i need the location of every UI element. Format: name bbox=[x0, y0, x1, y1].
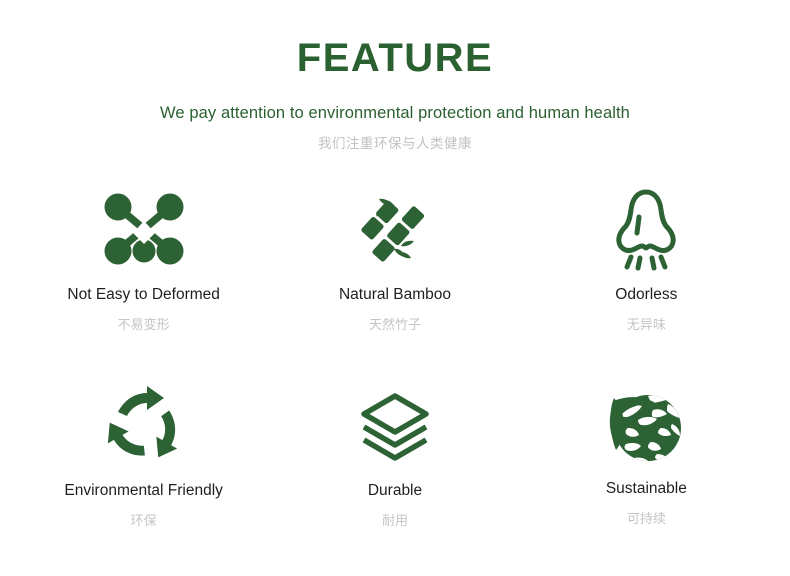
feature-grid: Not Easy to Deformed 不易变形 bbox=[0, 180, 790, 572]
feature-item-natural-bamboo: Natural Bamboo 天然竹子 bbox=[269, 180, 520, 376]
feature-label-en: Sustainable bbox=[606, 480, 687, 499]
section-header: FEATURE We pay attention to environmenta… bbox=[0, 38, 790, 152]
feature-label-cn: 不易变形 bbox=[118, 317, 170, 333]
layers-stack-icon bbox=[357, 376, 433, 476]
page-title: FEATURE bbox=[0, 38, 790, 78]
globe-leaf-icon bbox=[604, 376, 688, 476]
bamboo-stalks-icon bbox=[358, 180, 432, 278]
feature-label-en: Natural Bamboo bbox=[339, 286, 451, 305]
feature-label-en: Not Easy to Deformed bbox=[67, 286, 219, 305]
feature-item-durable: Durable 耐用 bbox=[269, 376, 520, 572]
feature-label-en: Environmental Friendly bbox=[64, 482, 223, 501]
subtitle-chinese: 我们注重环保与人类健康 bbox=[0, 136, 790, 152]
molecule-structure-icon bbox=[103, 180, 185, 278]
feature-label-cn: 环保 bbox=[131, 513, 157, 529]
nose-icon bbox=[610, 180, 682, 278]
feature-label-en: Odorless bbox=[615, 286, 677, 305]
feature-item-not-easy-to-deformed: Not Easy to Deformed 不易变形 bbox=[18, 180, 269, 376]
subtitle-english: We pay attention to environmental protec… bbox=[0, 104, 790, 124]
feature-label-en: Durable bbox=[368, 482, 422, 501]
feature-label-cn: 耐用 bbox=[382, 513, 408, 529]
feature-label-cn: 可持续 bbox=[627, 511, 666, 527]
feature-item-environmental-friendly: Environmental Friendly 环保 bbox=[18, 376, 269, 572]
feature-item-sustainable: Sustainable 可持续 bbox=[521, 376, 772, 572]
feature-item-odorless: Odorless 无异味 bbox=[521, 180, 772, 376]
feature-label-cn: 无异味 bbox=[627, 317, 666, 333]
feature-section: FEATURE We pay attention to environmenta… bbox=[0, 0, 790, 576]
recycle-arrows-icon bbox=[102, 376, 186, 476]
feature-label-cn: 天然竹子 bbox=[369, 317, 421, 333]
